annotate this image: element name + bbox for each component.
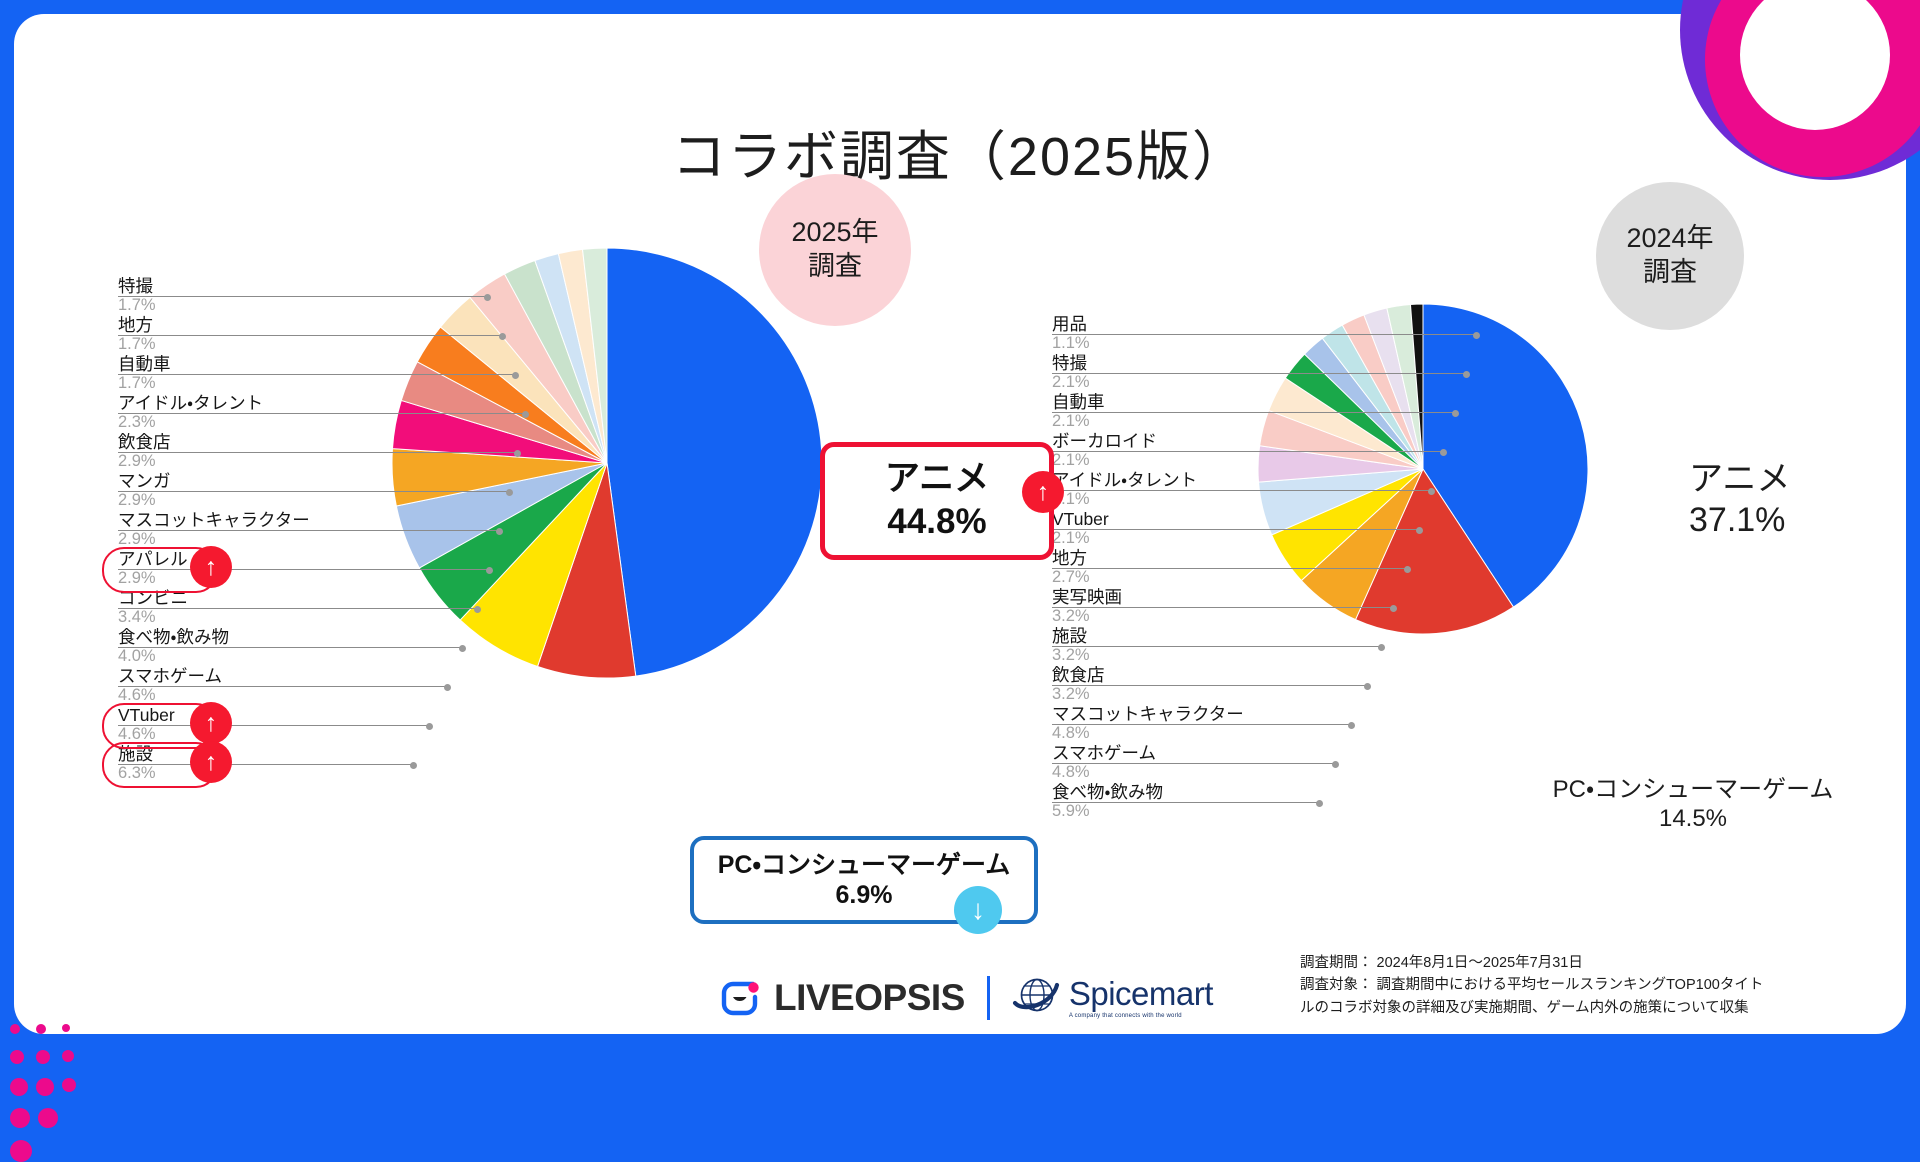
pie-chart-2024 — [1258, 304, 1588, 634]
leader-line-endpoint — [512, 372, 519, 379]
callout-pc-2024-label: PC・コンシューマーゲーム — [1553, 775, 1834, 804]
decorative-dot — [62, 1078, 76, 1092]
year-badge-2024: 2024年 調査 — [1596, 182, 1744, 330]
decorative-dot — [36, 1078, 54, 1096]
legend-item-label: 食べ物・飲み物 — [118, 627, 388, 647]
legend-item-label: 施設 — [1052, 626, 1307, 646]
liveopsis-mark-icon — [720, 977, 762, 1019]
legend-item-label: 食べ物・飲み物 — [1052, 782, 1307, 802]
leader-line-endpoint — [1316, 800, 1323, 807]
leader-line — [1052, 685, 1368, 686]
legend-item-label: ボーカロイド — [1052, 431, 1307, 451]
leader-line — [118, 608, 478, 609]
legend-item-percent: 2.1% — [1052, 490, 1307, 509]
leader-line — [1052, 607, 1394, 608]
decorative-dot — [36, 1050, 50, 1064]
legend-item-percent: 4.8% — [1052, 724, 1307, 743]
logo-divider — [987, 976, 990, 1020]
legend-item: 地方1.7% — [118, 315, 388, 354]
legend-item-label: 飲食店 — [1052, 665, 1307, 685]
legend-item-percent: 2.9% — [118, 569, 388, 588]
spicemart-tagline: A company that connects with the world — [1069, 1013, 1213, 1019]
callout-pc-2024-value: 14.5% — [1659, 804, 1727, 833]
legend-item: 施設6.3% — [118, 744, 388, 783]
legend-item-percent: 2.3% — [118, 413, 388, 432]
callout-pc-2025-label: PC・コンシューマーゲーム — [718, 850, 1010, 881]
legend-item-percent: 3.2% — [1052, 646, 1307, 665]
legend-item-percent: 2.9% — [118, 530, 388, 549]
leader-line-endpoint — [444, 684, 451, 691]
leader-line — [1052, 490, 1432, 491]
leader-line-endpoint — [1416, 527, 1423, 534]
decorative-dot — [10, 1050, 24, 1064]
year-badge-2025-line1: 2025年 — [791, 216, 878, 250]
decorative-dot — [10, 1108, 30, 1128]
legend-item: 自動車1.7% — [118, 354, 388, 393]
leader-line — [118, 296, 488, 297]
legend-item: アイドル・タレント2.3% — [118, 393, 388, 432]
year-badge-2024-line2: 調査 — [1643, 256, 1697, 290]
leader-line-endpoint — [426, 723, 433, 730]
leader-line — [118, 452, 518, 453]
survey-note-line-3: ルのコラボ対象の詳細及び実施期間、ゲーム内外の施策について収集 — [1300, 997, 1820, 1019]
legend-item-percent: 1.1% — [1052, 334, 1307, 353]
legend-item: 地方2.7% — [1052, 548, 1307, 587]
leader-line-endpoint — [496, 528, 503, 535]
legend-item: 実写映画3.2% — [1052, 587, 1307, 626]
leader-line — [118, 686, 448, 687]
legend-item-percent: 2.1% — [1052, 412, 1307, 431]
legend-item-label: マンガ — [118, 471, 388, 491]
callout-pc-2025-value: 6.9% — [836, 880, 893, 911]
leader-line — [118, 491, 510, 492]
leader-line-endpoint — [499, 333, 506, 340]
leader-line — [118, 764, 414, 765]
leader-line — [118, 647, 463, 648]
legend-item-percent: 4.6% — [118, 725, 388, 744]
leader-line-endpoint — [459, 645, 466, 652]
page-title: コラボ調査（2025版） — [14, 112, 1906, 191]
legend-item-percent: 1.7% — [118, 296, 388, 315]
leader-line-endpoint — [514, 450, 521, 457]
legend-item: ボーカロイド2.1% — [1052, 431, 1307, 470]
leader-line-endpoint — [1452, 410, 1459, 417]
callout-anime-2025-label: アニメ — [885, 458, 989, 501]
leader-line — [1052, 529, 1420, 530]
leader-line-endpoint — [1332, 761, 1339, 768]
legend-item-percent: 2.1% — [1052, 373, 1307, 392]
legend-item: VTuber4.6% — [118, 705, 388, 744]
leader-line — [1052, 802, 1320, 803]
legend-item: 用品1.1% — [1052, 314, 1307, 353]
legend-item-label: スマホゲーム — [118, 666, 388, 686]
survey-note-line-2: 調査対象： 調査期間中における平均セールスランキングTOP100タイト — [1300, 974, 1820, 996]
decorative-dot — [62, 1050, 74, 1062]
year-badge-2024-line1: 2024年 — [1626, 222, 1713, 256]
legend-item-percent: 4.8% — [1052, 763, 1307, 782]
legend-item: 食べ物・飲み物4.0% — [118, 627, 388, 666]
leader-line — [118, 374, 516, 375]
leader-line-endpoint — [1390, 605, 1397, 612]
liveopsis-logo: LIVEOPSIS — [720, 977, 965, 1019]
trend-up-icon: ↑ — [190, 702, 232, 744]
leader-line-endpoint — [474, 606, 481, 613]
legend-item: マスコットキャラクター4.8% — [1052, 704, 1307, 743]
leader-line-endpoint — [1348, 722, 1355, 729]
leader-line-endpoint — [1404, 566, 1411, 573]
callout-anime-2025: アニメ 44.8% — [820, 442, 1054, 560]
legend-list-2025: 特撮1.7%地方1.7%自動車1.7%アイドル・タレント2.3%飲食店2.9%マ… — [118, 276, 388, 783]
decorative-dot — [10, 1078, 28, 1096]
legend-item-percent: 5.9% — [1052, 802, 1307, 821]
legend-item-percent: 2.9% — [118, 452, 388, 471]
globe-icon — [1012, 972, 1060, 1023]
leader-line-endpoint — [1428, 488, 1435, 495]
legend-item-percent: 2.1% — [1052, 451, 1307, 470]
leader-line-endpoint — [1440, 449, 1447, 456]
leader-line — [118, 335, 503, 336]
leader-line — [1052, 724, 1352, 725]
decorative-dot — [38, 1108, 58, 1128]
pie-chart-2025 — [392, 248, 822, 678]
legend-item-percent: 1.7% — [118, 335, 388, 354]
legend-item-label: 用品 — [1052, 314, 1307, 334]
leader-line — [118, 725, 430, 726]
legend-item-label: VTuber — [1052, 509, 1307, 529]
legend-item: コンビニ3.4% — [118, 588, 388, 627]
legend-item: スマホゲーム4.8% — [1052, 743, 1307, 782]
trend-up-icon-anime-2025: ↑ — [1022, 471, 1064, 513]
leader-line-endpoint — [1463, 371, 1470, 378]
leader-line-endpoint — [1378, 644, 1385, 651]
leader-line-endpoint — [522, 411, 529, 418]
leader-line-endpoint — [410, 762, 417, 769]
leader-line — [1052, 412, 1456, 413]
legend-item-label: 実写映画 — [1052, 587, 1307, 607]
pie-slice — [607, 248, 822, 676]
legend-item: スマホゲーム4.6% — [118, 666, 388, 705]
trend-up-icon: ↑ — [190, 546, 232, 588]
legend-item: アパレル2.9% — [118, 549, 388, 588]
callout-anime-2024-value: 37.1% — [1689, 500, 1785, 541]
legend-item-percent: 2.9% — [118, 491, 388, 510]
legend-item: アイドル・タレント2.1% — [1052, 470, 1307, 509]
legend-item: 飲食店2.9% — [118, 432, 388, 471]
decorative-dot — [10, 1024, 20, 1034]
legend-item-percent: 6.3% — [118, 764, 388, 783]
legend-item: 飲食店3.2% — [1052, 665, 1307, 704]
footer-logos: LIVEOPSIS Spicemart A company that conne… — [720, 972, 1213, 1023]
leader-line — [1052, 451, 1444, 452]
legend-item-label: 特撮 — [1052, 353, 1307, 373]
legend-item-percent: 1.7% — [118, 374, 388, 393]
decorative-dot — [10, 1140, 32, 1162]
legend-item-label: 特撮 — [118, 276, 388, 296]
liveopsis-wordmark: LIVEOPSIS — [774, 977, 965, 1019]
legend-item-percent: 4.0% — [118, 647, 388, 666]
leader-line — [118, 530, 500, 531]
leader-line — [118, 413, 526, 414]
leader-line-endpoint — [486, 567, 493, 574]
legend-item-label: 自動車 — [1052, 392, 1307, 412]
legend-item-label: 自動車 — [118, 354, 388, 374]
leader-line — [1052, 334, 1477, 335]
leader-line — [1052, 373, 1467, 374]
legend-item: マンガ2.9% — [118, 471, 388, 510]
leader-line-endpoint — [506, 489, 513, 496]
legend-item-label: アイドル・タレント — [1052, 470, 1307, 490]
leader-line-endpoint — [1364, 683, 1371, 690]
legend-item: 自動車2.1% — [1052, 392, 1307, 431]
leader-line — [1052, 763, 1336, 764]
legend-item: 特撮1.7% — [118, 276, 388, 315]
trend-down-icon-pc-2025: ↓ — [954, 886, 1002, 934]
legend-item-label: 地方 — [118, 315, 388, 335]
legend-item: マスコットキャラクター2.9% — [118, 510, 388, 549]
survey-notes: 調査期間： 2024年8月1日〜2025年7月31日 調査対象： 調査期間中にお… — [1300, 952, 1820, 1019]
legend-item: 食べ物・飲み物5.9% — [1052, 782, 1307, 821]
legend-item-label: 飲食店 — [118, 432, 388, 452]
survey-note-line-1: 調査期間： 2024年8月1日〜2025年7月31日 — [1300, 952, 1820, 974]
legend-list-2024: 用品1.1%特撮2.1%自動車2.1%ボーカロイド2.1%アイドル・タレント2.… — [1052, 314, 1307, 821]
legend-item-percent: 4.6% — [118, 686, 388, 705]
leader-line — [118, 569, 490, 570]
legend-item-percent: 2.1% — [1052, 529, 1307, 548]
callout-anime-2024: アニメ 37.1% — [1669, 448, 1906, 552]
legend-item-label: マスコットキャラクター — [1052, 704, 1307, 724]
trend-up-icon: ↑ — [190, 741, 232, 783]
callout-anime-2024-label: アニメ — [1689, 459, 1790, 500]
callout-anime-2025-value: 44.8% — [887, 501, 986, 544]
legend-item-label: 地方 — [1052, 548, 1307, 568]
spicemart-wordmark: Spicemart — [1069, 977, 1213, 1010]
legend-item-percent: 3.4% — [118, 608, 388, 627]
callout-pc-2024: PC・コンシューマーゲーム 14.5% — [1528, 766, 1858, 842]
leader-line-endpoint — [484, 294, 491, 301]
leader-line — [1052, 646, 1382, 647]
spicemart-logo: Spicemart A company that connects with t… — [1012, 972, 1213, 1023]
leader-line — [1052, 568, 1408, 569]
legend-item: 特撮2.1% — [1052, 353, 1307, 392]
slide-card: コラボ調査（2025版） 2025年 調査 2024年 調査 特撮1.7%地方1… — [14, 14, 1906, 1034]
legend-item: VTuber2.1% — [1052, 509, 1307, 548]
legend-item-label: アパレル — [118, 549, 388, 569]
leader-line-endpoint — [1473, 332, 1480, 339]
legend-item-label: アイドル・タレント — [118, 393, 388, 413]
legend-item-label: スマホゲーム — [1052, 743, 1307, 763]
legend-item-percent: 3.2% — [1052, 607, 1307, 626]
legend-item-label: コンビニ — [118, 588, 388, 608]
legend-item-label: VTuber — [118, 705, 388, 725]
legend-item-label: 施設 — [118, 744, 388, 764]
legend-item: 施設3.2% — [1052, 626, 1307, 665]
legend-item-label: マスコットキャラクター — [118, 510, 388, 530]
legend-item-percent: 3.2% — [1052, 685, 1307, 704]
legend-item-percent: 2.7% — [1052, 568, 1307, 587]
